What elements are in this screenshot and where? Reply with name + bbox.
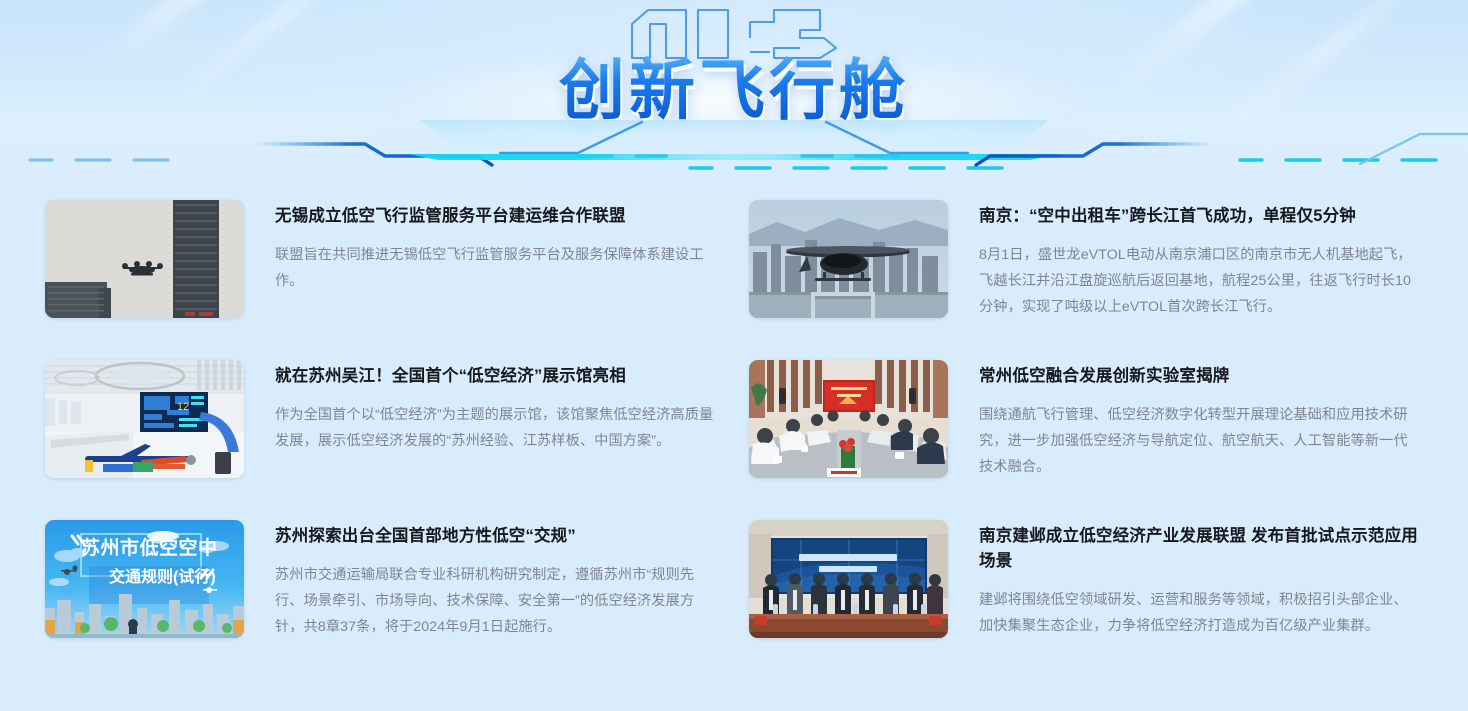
news-title[interactable]: 常州低空融合发展创新实验室揭牌	[979, 364, 1419, 389]
news-text: 南京：“空中出租车”跨长江首飞成功，单程仅5分钟 8月1日，盛世龙eVTOL电动…	[979, 200, 1419, 320]
news-description: 作为全国首个以“低空经济”为主题的展示馆，该馆聚焦低空经济高质量发展，展示低空经…	[275, 402, 715, 454]
news-title[interactable]: 就在苏州吴江！全国首个“低空经济”展示馆亮相	[275, 364, 715, 389]
poster-headline-line1: 苏州市低空空中	[81, 536, 218, 559]
thumbnail-conference-meeting-room[interactable]	[749, 360, 948, 478]
thumbnail-alliance-launch-ceremony[interactable]	[749, 520, 948, 638]
news-text: 苏州探索出台全国首部地方性低空“交规” 苏州市交通运输局联合专业科研机构研究制定…	[275, 520, 715, 640]
page-banner: 创新飞行舱	[0, 0, 1468, 192]
news-description: 围绕通航飞行管理、低空经济数字化转型开展理论基础和应用技术研究，进一步加强低空经…	[979, 402, 1419, 480]
thumbnail-drone-over-city-buildings[interactable]	[45, 200, 244, 318]
thumbnail-exhibition-hall-interior[interactable]: 12	[45, 360, 244, 478]
news-description: 联盟旨在共同推进无锡低空飞行监管服务平台及服务保障体系建设工作。	[275, 242, 715, 294]
tech-line-decorations	[0, 120, 1468, 192]
news-title[interactable]: 苏州探索出台全国首部地方性低空“交规”	[275, 524, 715, 549]
news-item[interactable]: 常州低空融合发展创新实验室揭牌 围绕通航飞行管理、低空经济数字化转型开展理论基础…	[749, 360, 1453, 520]
news-item[interactable]: 苏州市低空空中 交通规则(试行)	[45, 520, 749, 680]
thumbnail-suzhou-low-altitude-traffic-rules-poster[interactable]: 苏州市低空空中 交通规则(试行)	[45, 520, 244, 638]
news-title[interactable]: 南京：“空中出租车”跨长江首飞成功，单程仅5分钟	[979, 204, 1419, 229]
news-description: 建邺将围绕低空领域研发、运营和服务等领域，积极招引头部企业、加快集聚生态企业，力…	[979, 587, 1419, 639]
news-text: 南京建邺成立低空经济产业发展联盟 发布首批试点示范应用场景 建邺将围绕低空领域研…	[979, 520, 1419, 639]
poster-headline-line2: 交通规则(试行)	[109, 567, 216, 586]
page-title: 创新飞行舱	[0, 52, 1468, 128]
news-title[interactable]: 无锡成立低空飞行监管服务平台建运维合作联盟	[275, 204, 715, 229]
news-text: 常州低空融合发展创新实验室揭牌 围绕通航飞行管理、低空经济数字化转型开展理论基础…	[979, 360, 1419, 480]
svg-text:12: 12	[177, 401, 189, 413]
news-text: 无锡成立低空飞行监管服务平台建运维合作联盟 联盟旨在共同推进无锡低空飞行监管服务…	[275, 200, 715, 294]
news-item[interactable]: 无锡成立低空飞行监管服务平台建运维合作联盟 联盟旨在共同推进无锡低空飞行监管服务…	[45, 200, 749, 360]
news-description: 8月1日，盛世龙eVTOL电动从南京浦口区的南京市无人机基地起飞，飞越长江并沿江…	[979, 242, 1419, 320]
news-item[interactable]: 12	[45, 360, 749, 520]
news-grid: 无锡成立低空飞行监管服务平台建运维合作联盟 联盟旨在共同推进无锡低空飞行监管服务…	[0, 200, 1468, 690]
news-item[interactable]: 南京建邺成立低空经济产业发展联盟 发布首批试点示范应用场景 建邺将围绕低空领域研…	[749, 520, 1453, 680]
news-text: 就在苏州吴江！全国首个“低空经济”展示馆亮相 作为全国首个以“低空经济”为主题的…	[275, 360, 715, 454]
news-item[interactable]: 南京：“空中出租车”跨长江首飞成功，单程仅5分钟 8月1日，盛世龙eVTOL电动…	[749, 200, 1453, 360]
thumbnail-evtol-aircraft-over-cityscape[interactable]	[749, 200, 948, 318]
news-description: 苏州市交通运输局联合专业科研机构研究制定，遵循苏州市“规则先行、场景牵引、市场导…	[275, 562, 715, 640]
news-title[interactable]: 南京建邺成立低空经济产业发展联盟 发布首批试点示范应用场景	[979, 524, 1419, 574]
